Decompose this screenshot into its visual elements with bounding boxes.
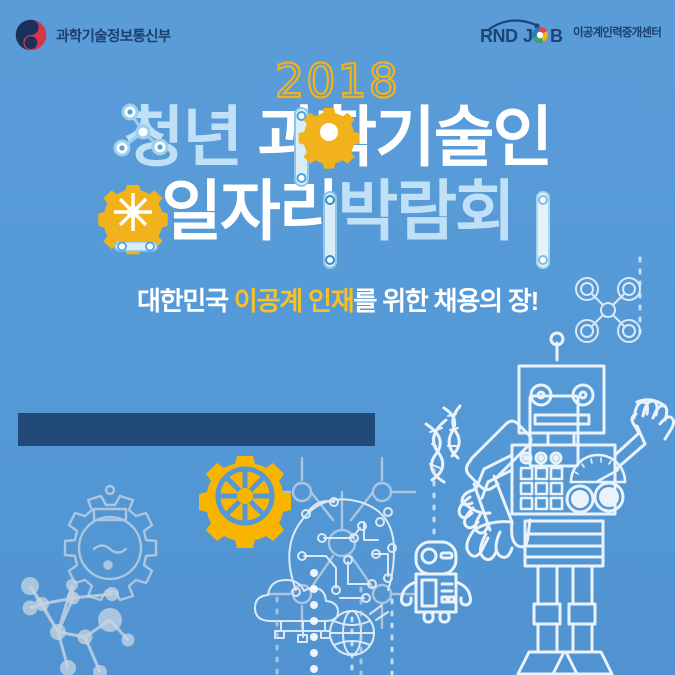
svg-text:J: J (523, 26, 533, 45)
title-line-2: 일자리박람회 (0, 178, 675, 244)
svg-text:RND: RND (480, 26, 518, 45)
title-scientists: 과학기술인 (258, 100, 552, 174)
subtitle-highlight: 이공계 인재 (234, 286, 354, 316)
subtitle-part-2: 를 위한 채용의 장! (353, 286, 538, 316)
molecule-network-icon (21, 577, 135, 675)
rndjob-logo-icon: RND J B (480, 17, 568, 43)
ministry-label: 과학기술정보통신부 (56, 25, 171, 46)
yellow-gear-icon (199, 456, 291, 548)
info-bar (18, 413, 375, 446)
title-youth: 청년 (124, 100, 241, 174)
gear-clock-icon (65, 486, 156, 600)
poster-canvas: .ln{fill:none;stroke:#EAF3FB;stroke-widt… (0, 0, 675, 675)
ministry-logo: 과학기술정보통신부 (14, 18, 171, 52)
partner-label: 이공계인력중개센터 (573, 24, 661, 43)
title-jobs: 일자리 (161, 174, 337, 248)
subtitle: 대한민국 이공계 인재를 위한 채용의 장! (0, 281, 675, 318)
svg-text:B: B (550, 26, 563, 45)
dna-helix-icon (426, 406, 460, 482)
partner-logo: RND J B 이공계인력중개센터 (480, 17, 661, 43)
year-heading: 2018 (0, 58, 675, 104)
title-space-1 (241, 100, 257, 174)
title-line-1: 청년 과학기술인 (0, 104, 675, 170)
taeguk-logo-icon (14, 18, 48, 52)
big-robot (459, 333, 673, 674)
title-fair: 박람회 (338, 174, 514, 248)
small-robot (402, 542, 471, 622)
subtitle-part-1: 대한민국 (137, 286, 234, 316)
